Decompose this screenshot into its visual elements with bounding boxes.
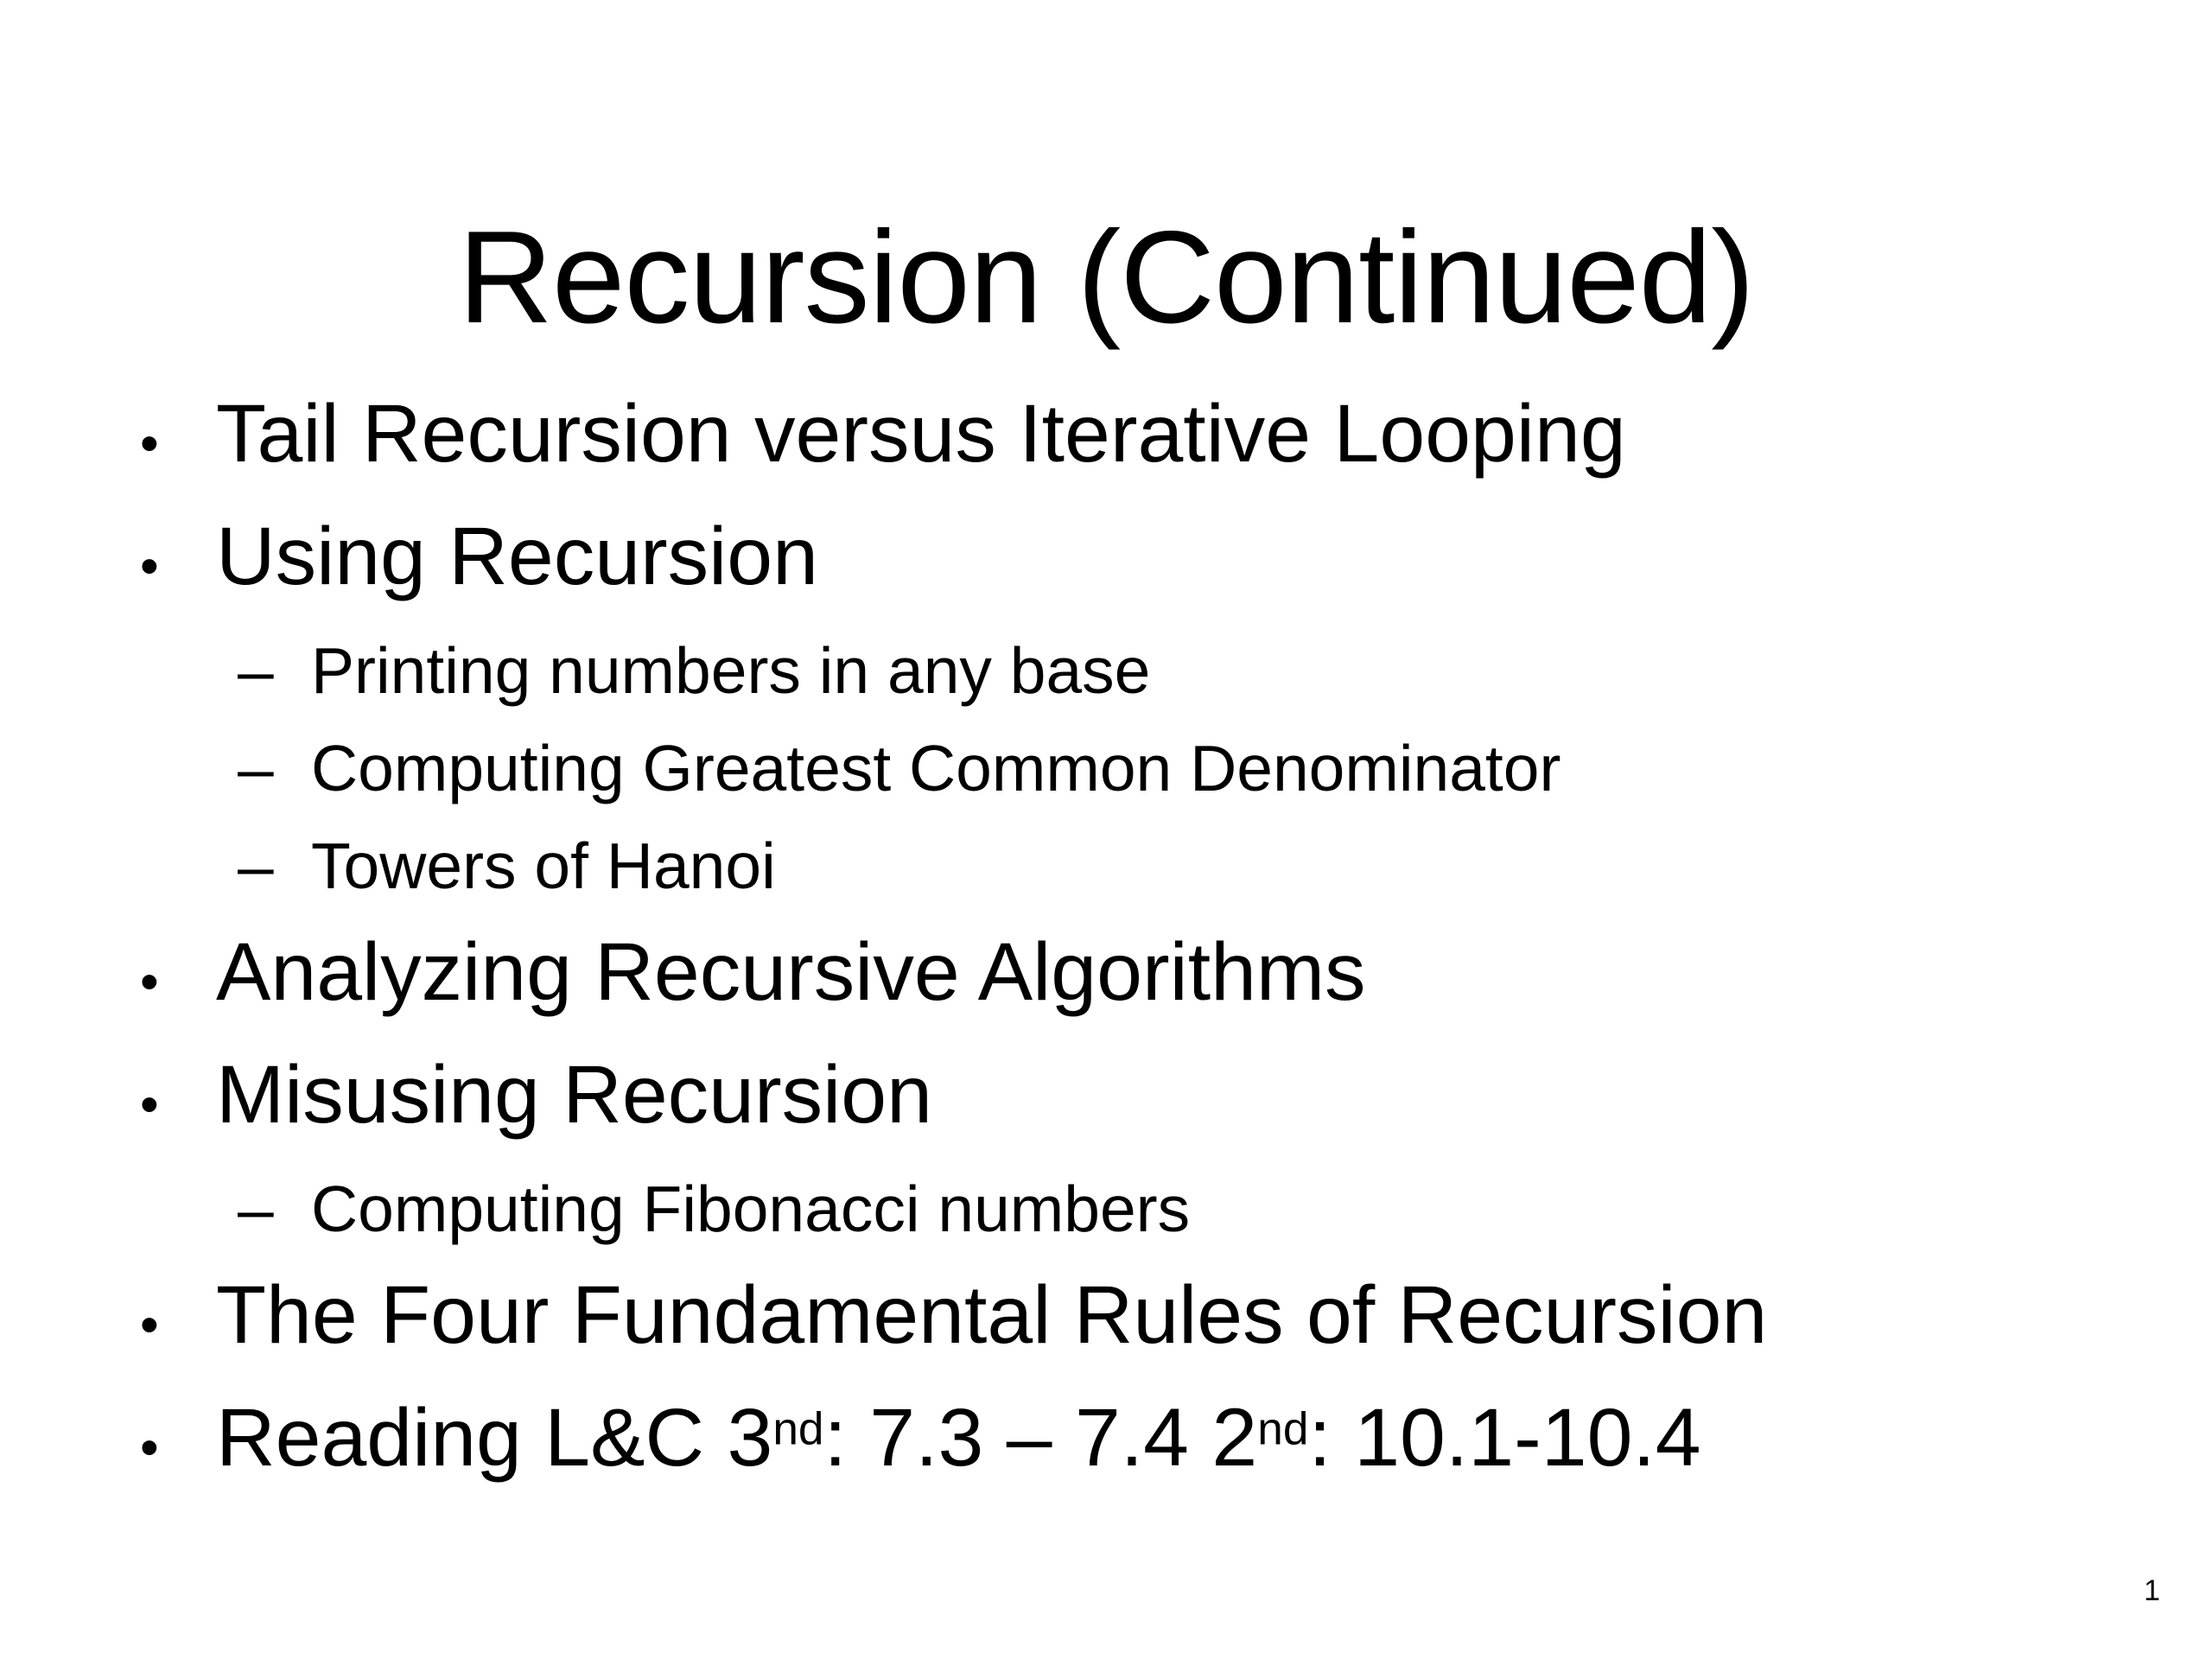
ordinal-suffix-2nd: nd xyxy=(1257,1404,1308,1455)
sub-list-item-label: Computing Fibonacci numbers xyxy=(311,1177,2117,1242)
list-item-label: Tail Recursion versus Iterative Looping xyxy=(216,393,2117,475)
ordinal-suffix-3rd: nd xyxy=(772,1404,823,1455)
sub-list-item: – Computing Fibonacci numbers xyxy=(130,1177,2117,1242)
bullet-icon: • xyxy=(130,1299,216,1352)
list-item-label: Analyzing Recursive Algorithms xyxy=(216,931,2117,1014)
reading-part-1: Reading L&C 3 xyxy=(216,1392,772,1484)
slide-body: • Tail Recursion versus Iterative Loopin… xyxy=(130,393,2117,1520)
reading-part-2: : 7.3 – 7.4 2 xyxy=(823,1392,1257,1484)
reading-part-3: : 10.1-10.4 xyxy=(1308,1392,1700,1484)
sub-list-group: – Printing numbers in any base – Computi… xyxy=(130,639,2117,899)
bullet-icon: • xyxy=(130,956,216,1009)
list-item: • The Four Fundamental Rules of Recursio… xyxy=(130,1274,2117,1357)
sub-list-item-label: Towers of Hanoi xyxy=(311,834,2117,899)
sub-list-item: – Printing numbers in any base xyxy=(130,639,2117,703)
dash-icon: – xyxy=(238,639,311,703)
list-item-label: The Four Fundamental Rules of Recursion xyxy=(216,1274,2117,1357)
page-title: Recursion (Continued) xyxy=(0,209,2212,347)
list-item: • Using Recursion xyxy=(130,516,2117,598)
sub-list-item-label: Computing Greatest Common Denominator xyxy=(311,736,2117,801)
list-item: • Analyzing Recursive Algorithms xyxy=(130,931,2117,1014)
page-number: 1 xyxy=(2144,1576,2160,1605)
bullet-icon: • xyxy=(130,1421,216,1475)
list-item: • Tail Recursion versus Iterative Loopin… xyxy=(130,393,2117,475)
dash-icon: – xyxy=(238,1177,311,1242)
list-item: • Misusing Recursion xyxy=(130,1054,2117,1136)
sub-list-item: – Computing Greatest Common Denominator xyxy=(130,736,2117,801)
bullet-icon: • xyxy=(130,1078,216,1132)
bullet-icon: • xyxy=(130,417,216,471)
sub-list-group: – Computing Fibonacci numbers xyxy=(130,1177,2117,1242)
dash-icon: – xyxy=(238,736,311,801)
slide: Recursion (Continued) • Tail Recursion v… xyxy=(0,0,2212,1659)
reading-assignment-label: Reading L&C 3nd: 7.3 – 7.4 2nd: 10.1-10.… xyxy=(216,1397,2117,1479)
list-item: • Reading L&C 3nd: 7.3 – 7.4 2nd: 10.1-1… xyxy=(130,1397,2117,1479)
sub-list-item-label: Printing numbers in any base xyxy=(311,639,2117,703)
list-item-label: Misusing Recursion xyxy=(216,1054,2117,1136)
dash-icon: – xyxy=(238,834,311,899)
bullet-icon: • xyxy=(130,540,216,594)
list-item-label: Using Recursion xyxy=(216,516,2117,598)
sub-list-item: – Towers of Hanoi xyxy=(130,834,2117,899)
